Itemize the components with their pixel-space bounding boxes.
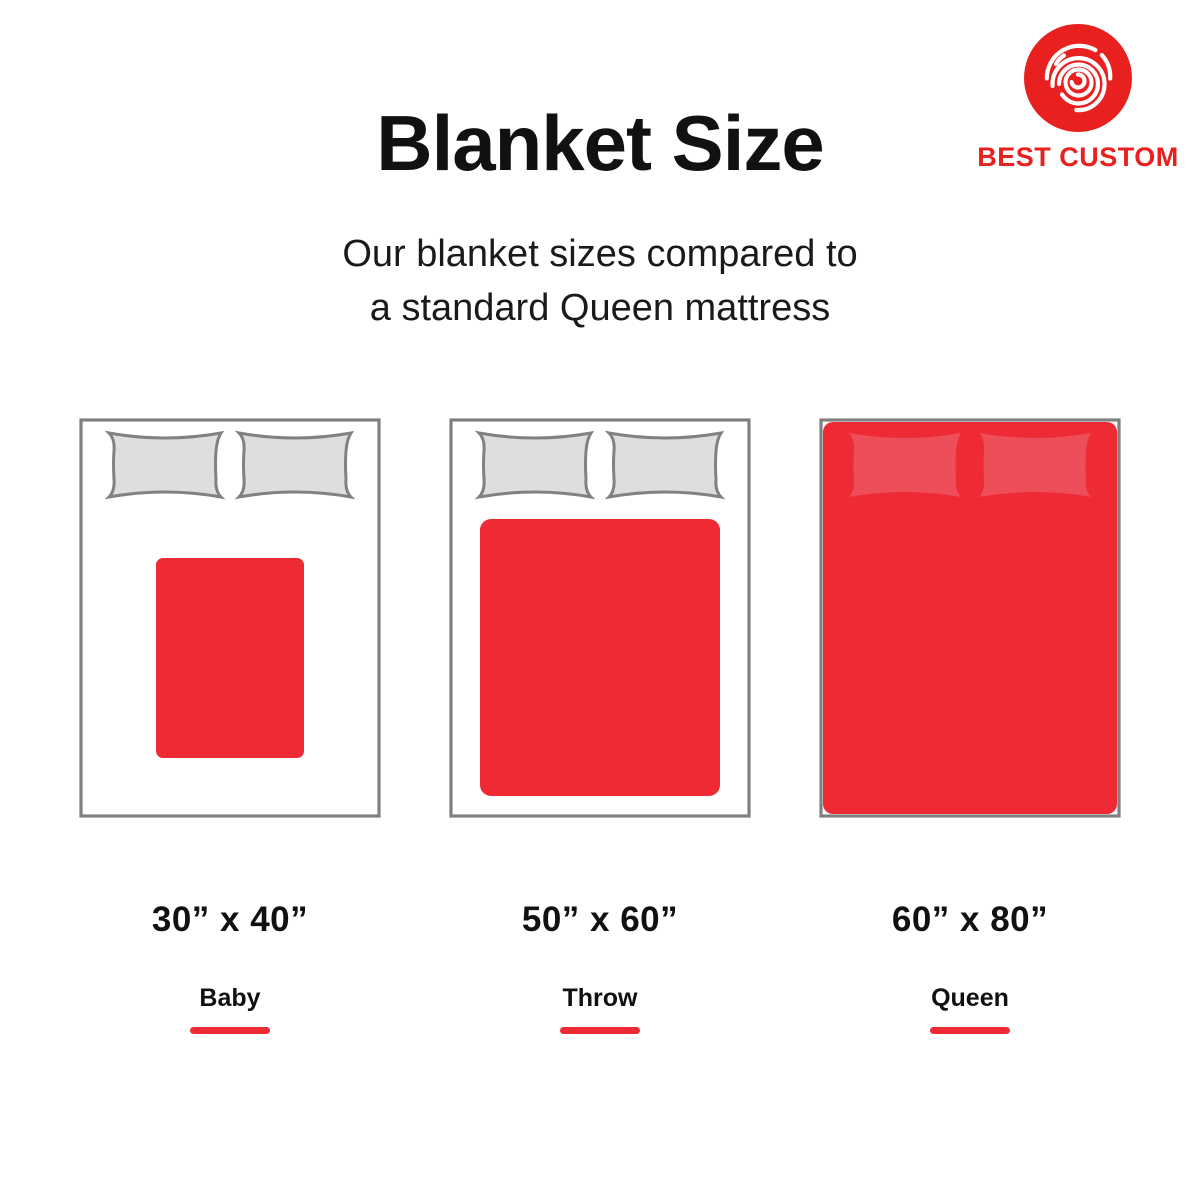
bed-comparison-throw: 50” x 60” Throw — [415, 418, 785, 1034]
size-label-queen: 60” x 80” — [785, 900, 1155, 940]
pillow-left — [109, 433, 221, 497]
bed-comparison-queen: 60” x 80” Queen — [785, 418, 1155, 1034]
caption-throw: 50” x 60” Throw — [415, 900, 785, 1034]
pillow-left — [479, 433, 591, 497]
accent-rule-baby — [190, 1027, 270, 1034]
pillow-right — [979, 433, 1091, 497]
subtitle-line-2: a standard Queen mattress — [0, 282, 1200, 336]
bed-diagram-queen — [819, 418, 1121, 818]
subtitle-line-1: Our blanket sizes compared to — [0, 228, 1200, 282]
infographic-canvas: BEST CUSTOM Blanket Size Our blanket siz… — [0, 0, 1200, 1200]
page-subtitle: Our blanket sizes compared to a standard… — [0, 228, 1200, 336]
accent-rule-throw — [560, 1027, 640, 1034]
bed-diagram-throw — [449, 418, 751, 818]
blanket-baby — [156, 558, 304, 758]
caption-queen: 60” x 80” Queen — [785, 900, 1155, 1034]
size-label-baby: 30” x 40” — [45, 900, 415, 940]
pillow-right — [239, 433, 351, 497]
name-label-queen: Queen — [785, 984, 1155, 1013]
name-label-throw: Throw — [415, 984, 785, 1013]
page-title: Blanket Size — [0, 104, 1200, 182]
blanket-throw — [480, 519, 720, 796]
pillow-left — [849, 433, 961, 497]
pillow-right — [609, 433, 721, 497]
caption-baby: 30” x 40” Baby — [45, 900, 415, 1034]
accent-rule-queen — [930, 1027, 1010, 1034]
bed-comparison-baby: 30” x 40” Baby — [45, 418, 415, 1034]
size-label-throw: 50” x 60” — [415, 900, 785, 940]
name-label-baby: Baby — [45, 984, 415, 1013]
bed-diagram-baby — [79, 418, 381, 818]
